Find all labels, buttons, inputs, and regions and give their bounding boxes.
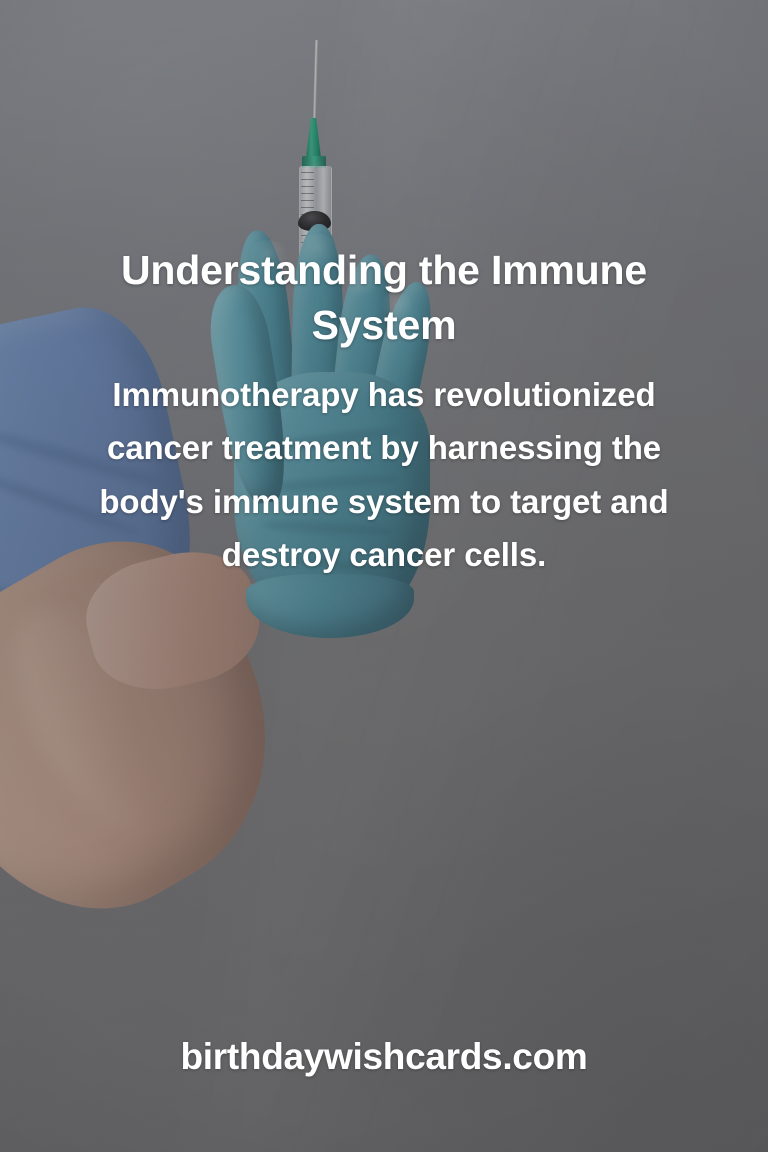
page-title: Understanding the Immune System [46,243,722,352]
site-url-footer: birthdaywishcards.com [0,1036,768,1078]
page-subtitle: Immunotherapy has revolutionized cancer … [56,368,712,582]
text-layer: Understanding the Immune System Immunoth… [0,0,768,1152]
social-card: Understanding the Immune System Immunoth… [0,0,768,1152]
